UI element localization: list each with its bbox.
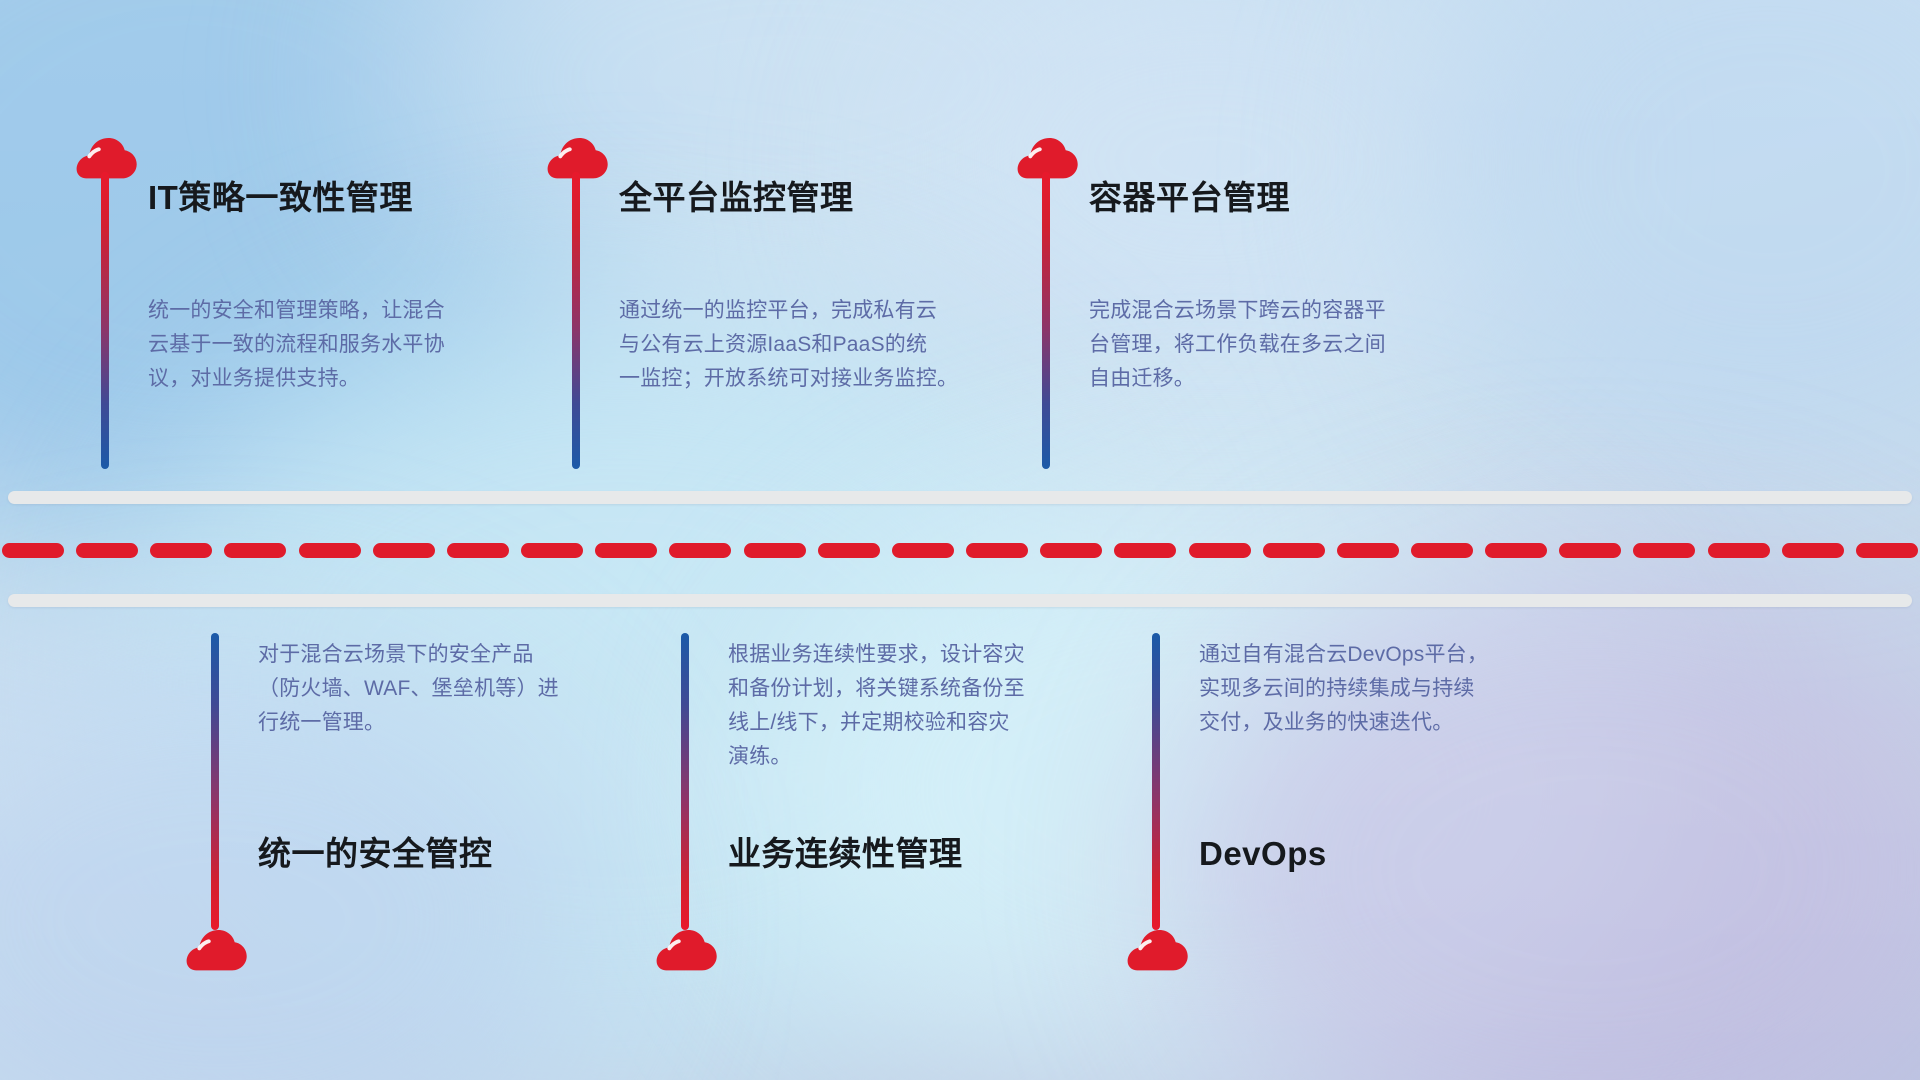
cloud-icon [186,925,248,971]
card-title: 容器平台管理 [1089,178,1290,218]
divider-dashed-line [0,543,1920,558]
divider-dash [1708,543,1770,558]
divider-dash [595,543,657,558]
divider-dash [1263,543,1325,558]
card-title: IT策略一致性管理 [148,178,413,218]
divider-dash [1633,543,1695,558]
divider-dash [1040,543,1102,558]
card-body: 完成混合云场景下跨云的容器平 台管理，将工作负载在多云之间 自由迁移。 [1089,294,1464,396]
divider-rail-top [8,491,1912,504]
card-body: 通过统一的监控平台，完成私有云 与公有云上资源IaaS和PaaS的统 一监控；开… [619,294,1009,396]
infographic-stage: IT策略一致性管理 统一的安全和管理策略，让混合 云基于一致的流程和服务水平协 … [0,0,1920,1080]
connector-stem [572,172,580,469]
connector-stem [1042,172,1050,469]
divider-dash [447,543,509,558]
divider-dash [76,543,138,558]
divider-dash [669,543,731,558]
card-title: 业务连续性管理 [728,834,963,874]
card-body: 通过自有混合云DevOps平台， 实现多云间的持续集成与持续 交付，及业务的快速… [1199,638,1559,740]
connector-stem [1152,633,1160,930]
divider-dash [1337,543,1399,558]
divider-dash [1485,543,1547,558]
cloud-icon [656,925,718,971]
divider-dash [892,543,954,558]
divider-dash [521,543,583,558]
divider-dash [744,543,806,558]
divider-dash [299,543,361,558]
divider-dash [224,543,286,558]
divider-dash [1559,543,1621,558]
cloud-icon [1127,925,1189,971]
card-title: DevOps [1199,834,1327,874]
card-title: 全平台监控管理 [619,178,854,218]
connector-stem [681,633,689,930]
divider-rail-bottom [8,594,1912,607]
connector-stem [101,172,109,469]
divider-dash [818,543,880,558]
card-body: 对于混合云场景下的安全产品 （防火墙、WAF、堡垒机等）进 行统一管理。 [258,638,618,740]
divider-dash [1782,543,1844,558]
divider-dash [1411,543,1473,558]
divider-dash [150,543,212,558]
card-title: 统一的安全管控 [258,834,493,874]
divider-dash [1189,543,1251,558]
divider-dash [1856,543,1918,558]
card-body: 根据业务连续性要求，设计容灾 和备份计划，将关键系统备份至 线上/线下，并定期校… [728,638,1098,774]
card-body: 统一的安全和管理策略，让混合 云基于一致的流程和服务水平协 议，对业务提供支持。 [148,294,508,396]
divider-dash [1114,543,1176,558]
divider-dash [966,543,1028,558]
divider-dash [2,543,64,558]
divider-dash [373,543,435,558]
connector-stem [211,633,219,930]
